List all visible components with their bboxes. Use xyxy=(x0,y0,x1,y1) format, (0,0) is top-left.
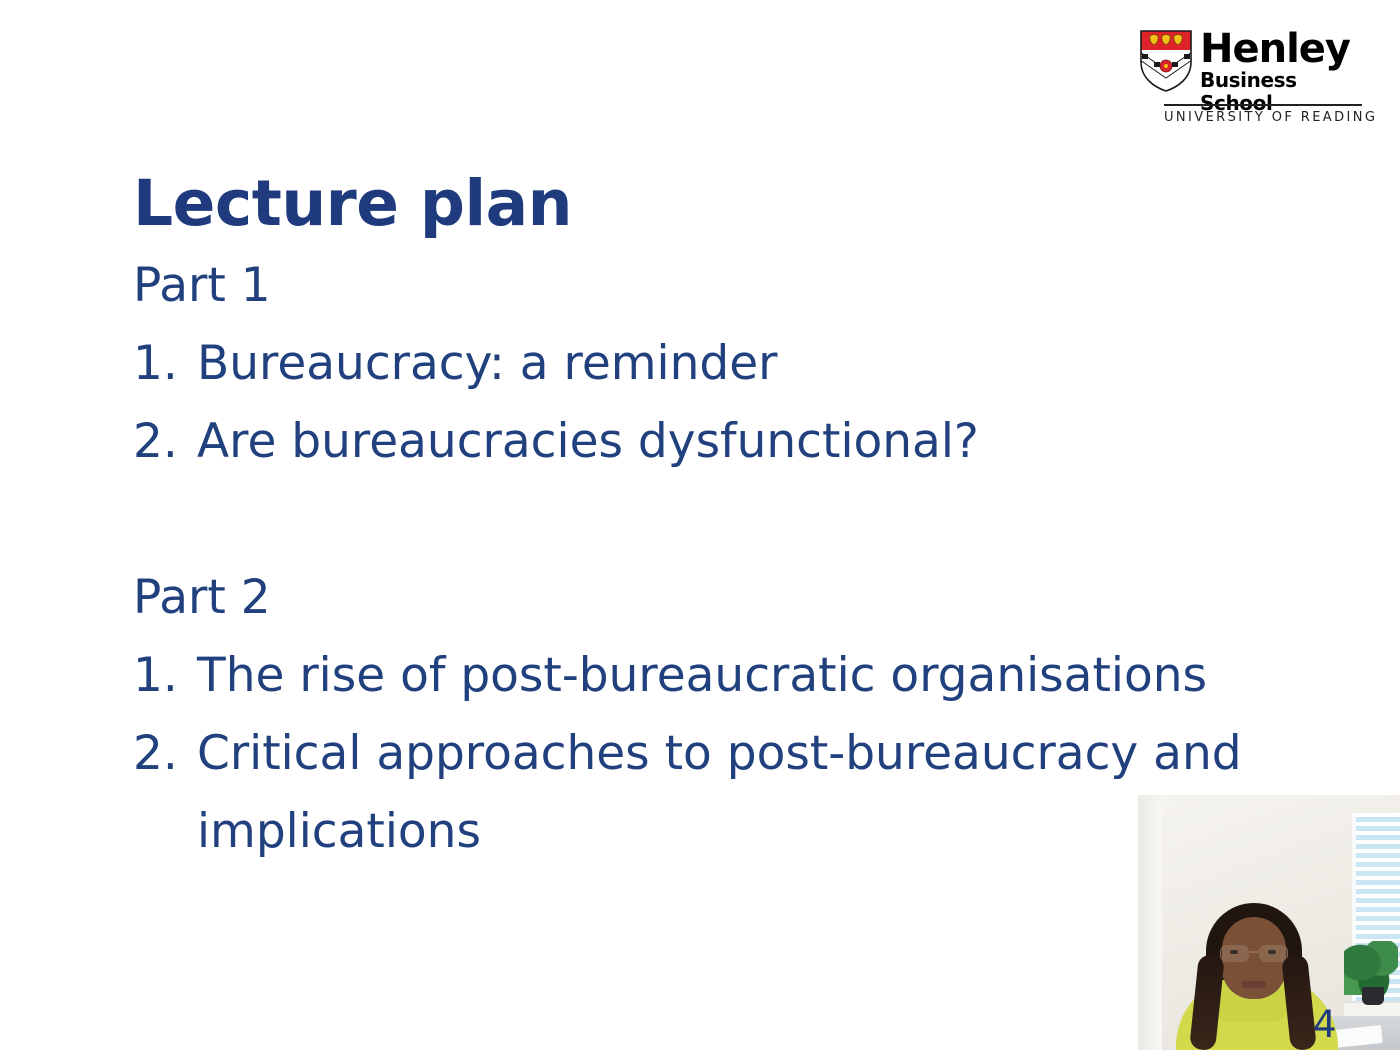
slide-body: Part 1 1. Bureaucracy: a reminder 2. Are… xyxy=(133,247,1400,871)
list-marker: 2. xyxy=(133,715,178,793)
logo-primary-text: Henley xyxy=(1200,29,1362,69)
presenter-video-overlay[interactable] xyxy=(1138,795,1400,1050)
list-marker: 1. xyxy=(133,325,178,403)
glasses-lens-left xyxy=(1220,945,1249,962)
list-marker: 2. xyxy=(133,403,178,481)
logo-top-row: Henley Business School xyxy=(1140,28,1362,100)
list-item: 1. The rise of post-bureaucratic organis… xyxy=(133,637,1400,715)
list-item-text: Are bureaucracies dysfunctional? xyxy=(197,414,979,469)
henley-business-school-logo: Henley Business School UNIVERSITY OF REA… xyxy=(1140,28,1362,126)
glasses-bridge xyxy=(1249,951,1259,953)
list-item-text: Bureaucracy: a reminder xyxy=(197,336,777,391)
logo-secondary-text: Business School xyxy=(1200,69,1362,115)
presenter-mouth xyxy=(1242,981,1266,988)
video-wall-corner xyxy=(1138,795,1162,1050)
list-marker: 1. xyxy=(133,637,178,715)
logo-divider-rule xyxy=(1164,104,1362,106)
page-number: 4 xyxy=(1313,1005,1337,1045)
list-item-text: The rise of post-bureaucratic organisati… xyxy=(197,648,1207,703)
section-part-1: Part 1 1. Bureaucracy: a reminder 2. Are… xyxy=(133,247,1400,481)
list-item: 2. Are bureaucracies dysfunctional? xyxy=(133,403,1400,481)
list-item: 1. Bureaucracy: a reminder xyxy=(133,325,1400,403)
numbered-list-part-1: 1. Bureaucracy: a reminder 2. Are bureau… xyxy=(133,325,1400,481)
presentation-slide: Henley Business School UNIVERSITY OF REA… xyxy=(0,0,1400,1050)
list-item-text: Critical approaches to post-bureaucracy … xyxy=(197,715,1400,793)
logo-university-text: UNIVERSITY OF READING xyxy=(1164,110,1362,126)
presenter-glasses-icon xyxy=(1218,945,1290,960)
logo-wordmark: Henley Business School xyxy=(1200,28,1362,115)
shield-crest-icon xyxy=(1140,30,1192,92)
section-heading: Part 1 xyxy=(133,247,1400,325)
page-title: Lecture plan xyxy=(133,166,572,242)
section-heading: Part 2 xyxy=(133,559,1400,637)
video-plant-pot xyxy=(1362,987,1384,1005)
